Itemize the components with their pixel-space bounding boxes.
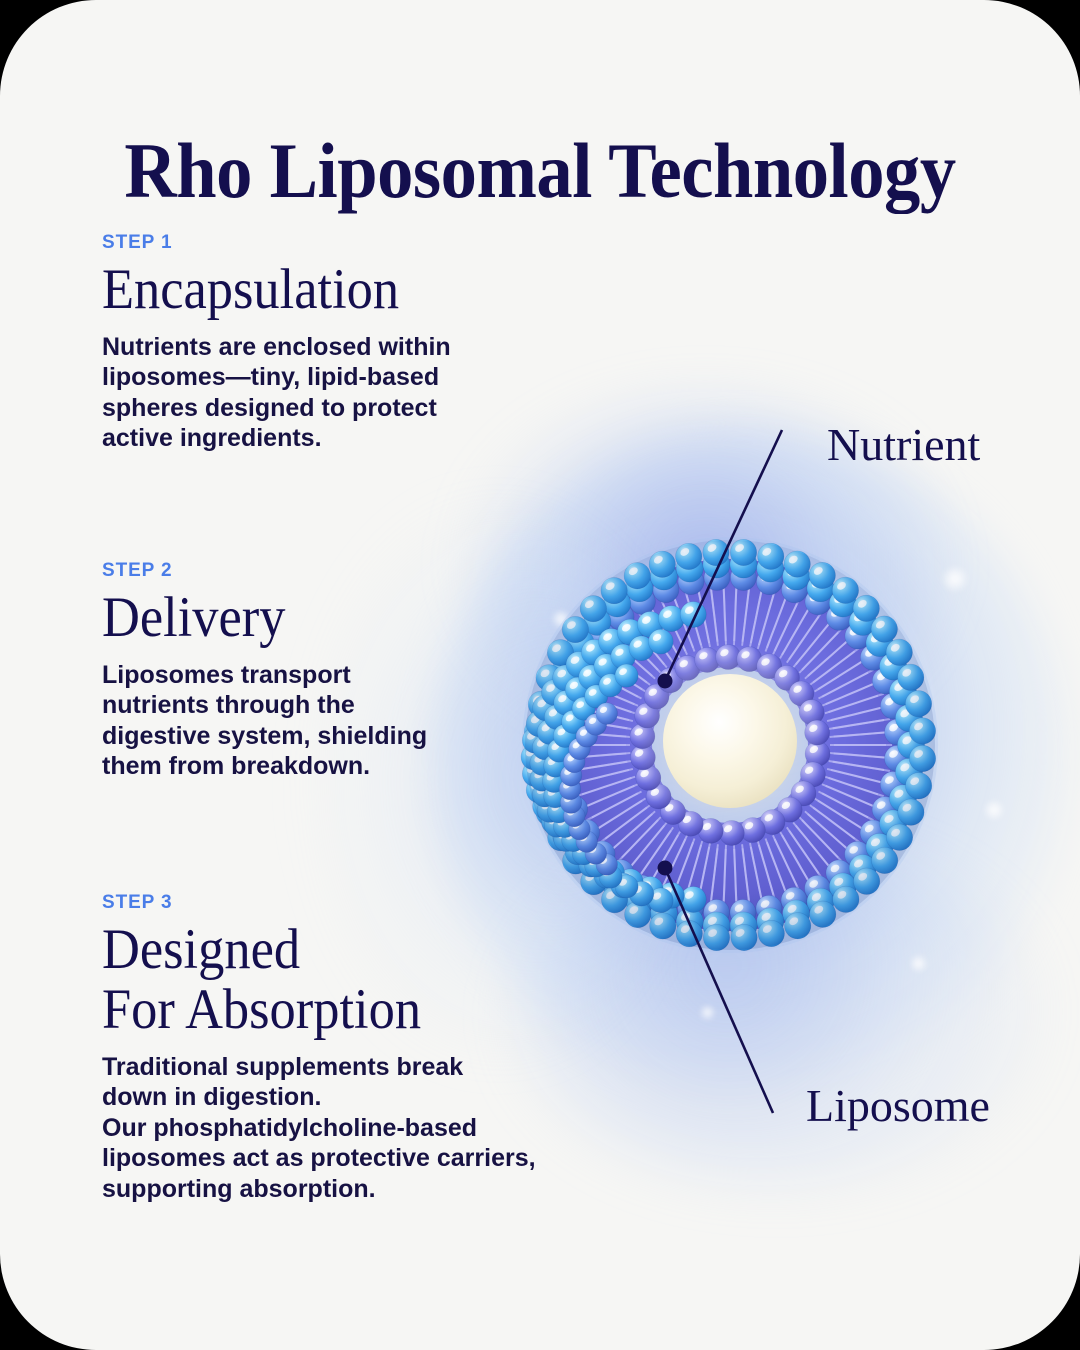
liposome-illustration [520, 535, 940, 955]
bokeh-particle [942, 566, 968, 592]
step-block-3: STEP 3 Designed For Absorption Tradition… [102, 892, 536, 1204]
step-eyebrow-2: STEP 2 [102, 560, 427, 582]
step-body-3: Traditional supplements break down in di… [102, 1052, 536, 1205]
step-body-1: Nutrients are enclosed within liposomes—… [102, 332, 451, 454]
step-eyebrow-3: STEP 3 [102, 892, 536, 914]
bokeh-particle [984, 800, 1004, 820]
step-eyebrow-1: STEP 1 [102, 232, 451, 254]
step-heading-1: Encapsulation [102, 260, 423, 320]
step-heading-2: Delivery [102, 588, 401, 648]
step-block-1: STEP 1 Encapsulation Nutrients are enclo… [102, 232, 451, 454]
callout-label-liposome: Liposome [806, 1079, 990, 1132]
page-title: Rho Liposomal Technology [38, 130, 1042, 211]
callout-label-nutrient: Nutrient [827, 418, 980, 471]
step-block-2: STEP 2 Delivery Liposomes transport nutr… [102, 560, 427, 782]
step-body-2: Liposomes transport nutrients through th… [102, 660, 427, 782]
bokeh-particle [700, 1005, 715, 1020]
step-heading-3: Designed For Absorption [102, 920, 501, 1040]
infographic-canvas: Rho Liposomal Technology STEP 1 Encapsul… [0, 0, 1080, 1350]
bokeh-particle [910, 955, 927, 972]
